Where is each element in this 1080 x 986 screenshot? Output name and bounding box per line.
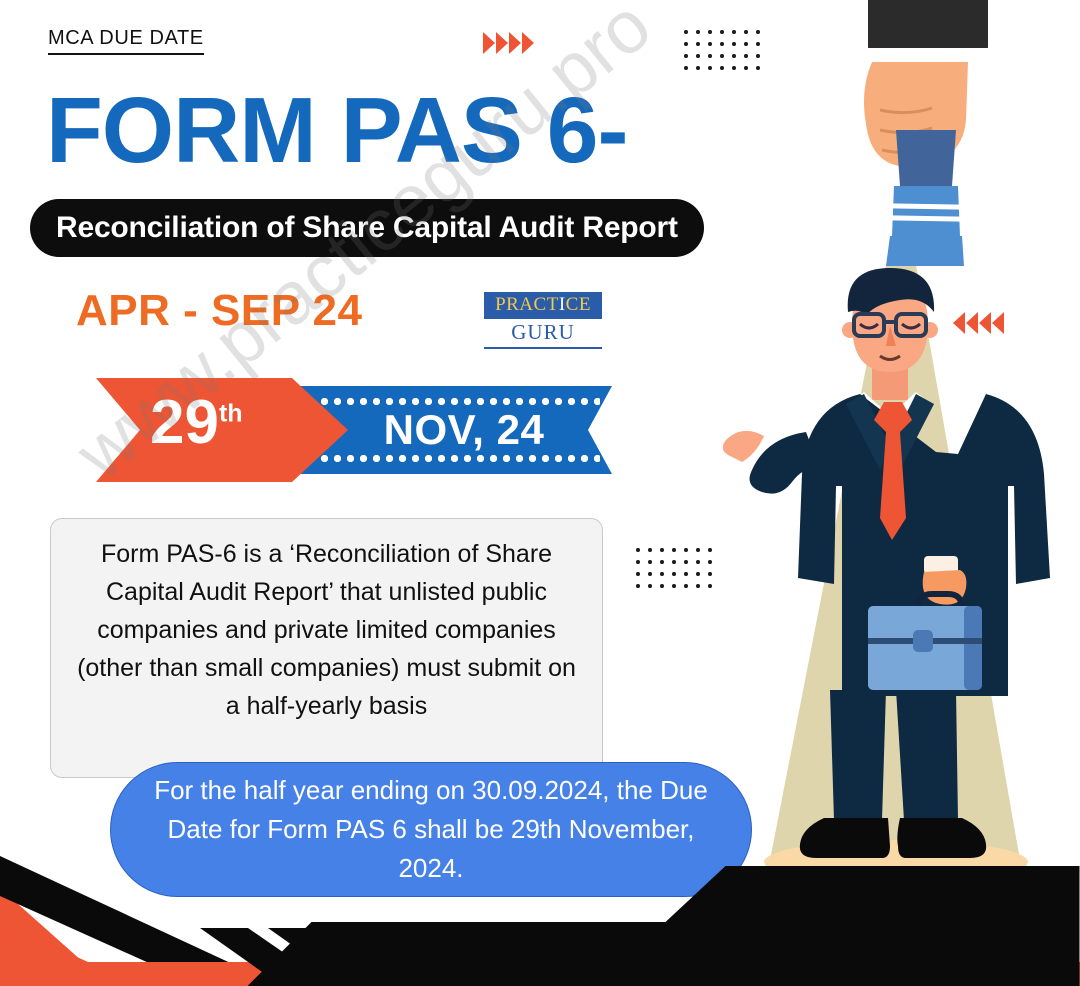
brand-logo-word: PRACTICE bbox=[495, 294, 591, 315]
brand-logo: PRACTICE GURU bbox=[484, 292, 602, 349]
ribbon-dotted-line-top bbox=[318, 398, 600, 405]
ribbon-dotted-line-bottom bbox=[318, 455, 600, 462]
info-card: Form PAS-6 is a ‘Reconciliation of Share… bbox=[50, 518, 603, 778]
businessman-illustration bbox=[720, 0, 1080, 920]
page-kicker: MCA DUE DATE bbox=[48, 27, 204, 55]
brand-logo-box: PRACTICE bbox=[484, 292, 602, 319]
subtitle-text: Reconciliation of Share Capital Audit Re… bbox=[56, 211, 678, 245]
due-date-ribbon: 29th NOV, 24 bbox=[96, 378, 612, 482]
decor-black-footer bbox=[248, 866, 1080, 986]
subtitle-banner: Reconciliation of Share Capital Audit Re… bbox=[30, 199, 704, 257]
dot-grid-icon-middle bbox=[636, 548, 720, 596]
ribbon-month-year: NOV, 24 bbox=[344, 406, 584, 454]
page-title: FORM PAS 6- bbox=[46, 86, 627, 174]
brand-logo-subword: GURU bbox=[484, 320, 602, 345]
briefcase-icon bbox=[868, 594, 982, 690]
ribbon-day: 29th bbox=[150, 392, 243, 454]
period-label: APR - SEP 24 bbox=[76, 286, 362, 336]
poster-canvas: MCA DUE DATE FORM PAS 6- Reconciliation … bbox=[0, 0, 1080, 986]
brand-logo-rule bbox=[484, 347, 602, 349]
info-card-text: Form PAS-6 is a ‘Reconciliation of Share… bbox=[69, 535, 584, 725]
triple-chevron-right-icon bbox=[483, 32, 534, 54]
bottom-decoration bbox=[0, 856, 1080, 986]
hand-holding-flashlight-illustration bbox=[864, 0, 988, 266]
